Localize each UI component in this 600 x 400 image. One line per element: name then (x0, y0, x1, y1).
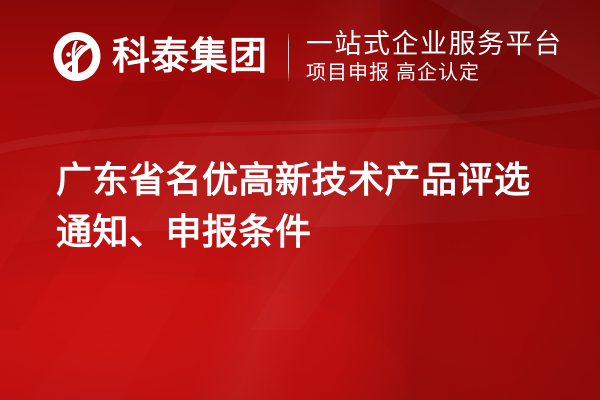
promo-banner: 科泰集团 一站式企业服务平台 项目申报 高企认定 广东省名优高新技术产品评选通知… (0, 0, 600, 400)
tagline-sub: 项目申报 高企认定 (306, 62, 563, 85)
header-divider (288, 33, 289, 81)
banner-header: 科泰集团 一站式企业服务平台 项目申报 高企认定 (52, 28, 563, 86)
tagline-main: 一站式企业服务平台 (306, 29, 563, 59)
brand-name: 科泰集团 (112, 38, 268, 76)
ketai-circle-logo-icon (52, 31, 102, 83)
tagline-group: 一站式企业服务平台 项目申报 高企认定 (306, 29, 563, 85)
page-title: 广东省名优高新技术产品评选通知、申报条件 (56, 154, 552, 258)
